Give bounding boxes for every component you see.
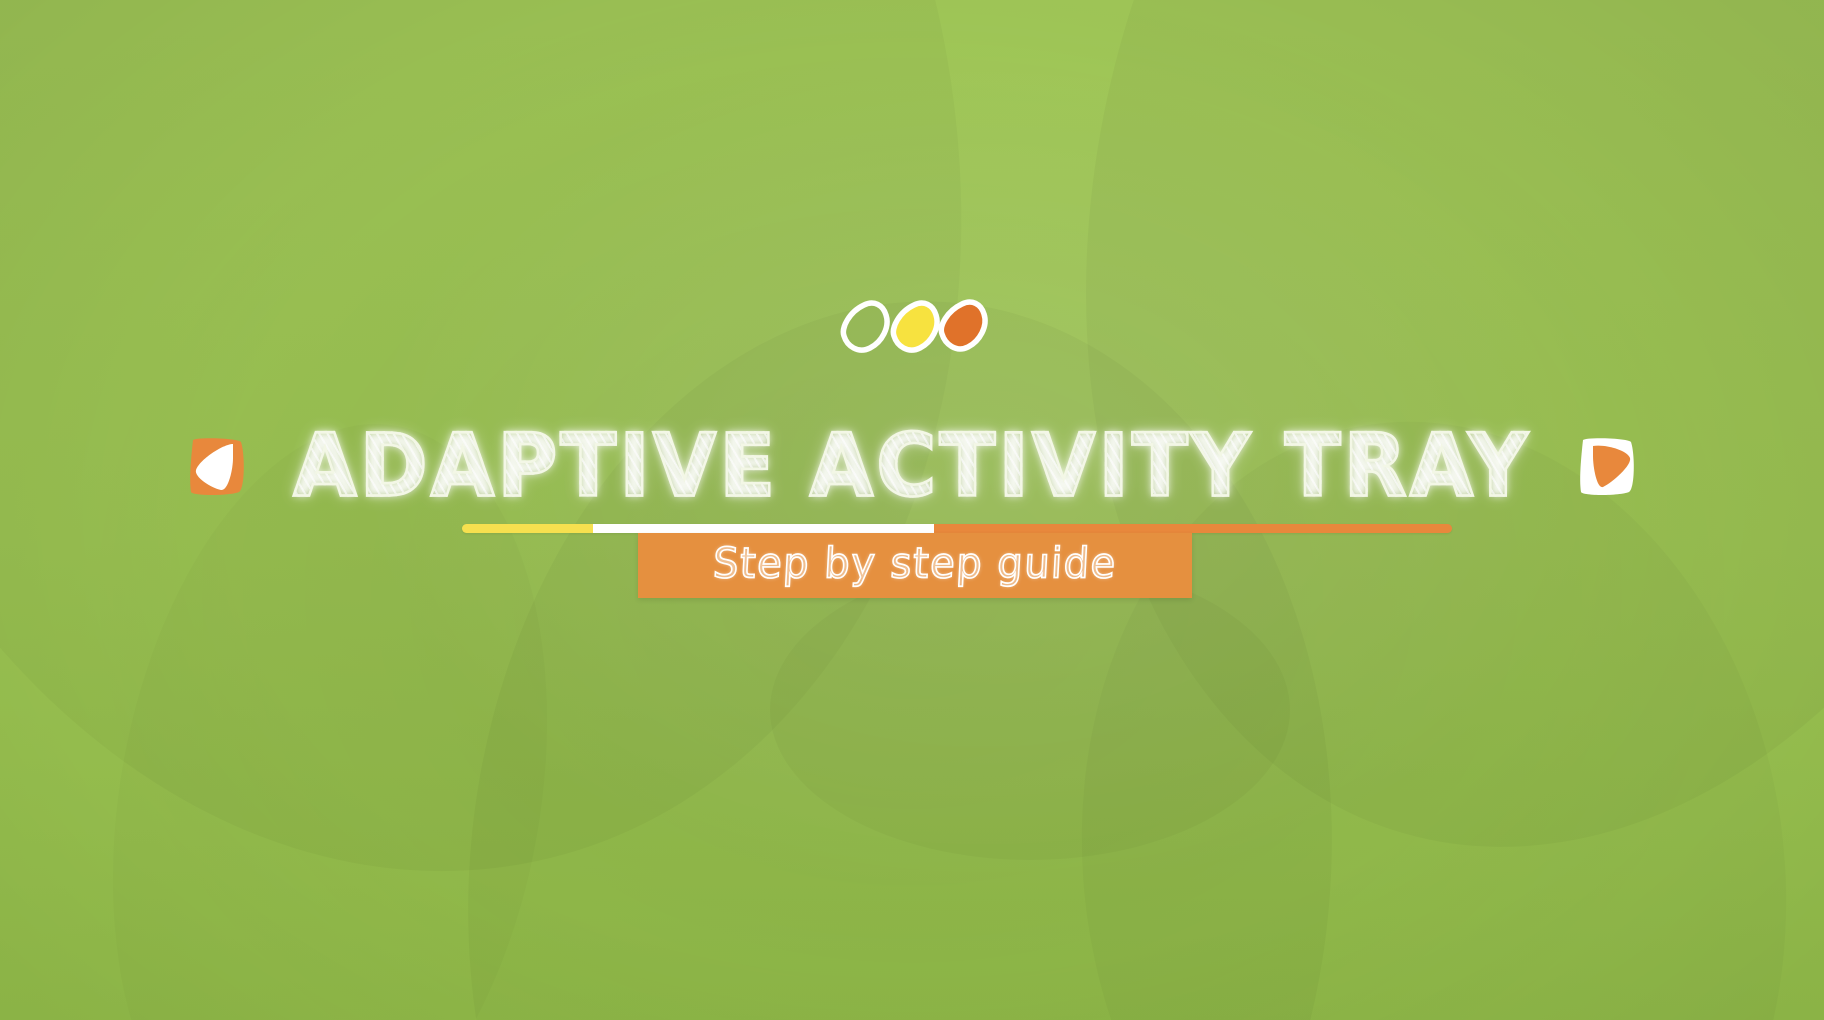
divider-segment-yellow (462, 524, 593, 533)
triangle-outline-icon (843, 303, 887, 350)
divider-segment-orange (934, 524, 1452, 533)
right-decoration-white-square-orange-triangle (1573, 432, 1641, 502)
subtitle-text: Step by step guide (712, 543, 1118, 588)
three-triangles-logo (838, 296, 990, 358)
background-swoosh-center (412, 258, 1387, 1020)
divider-segment-white (593, 524, 935, 533)
background-swoosh-center-lower (770, 560, 1290, 860)
left-decoration-orange-square-white-triangle (183, 432, 251, 502)
triangle-orange-icon (941, 302, 985, 349)
title-row: ADAPTIVE ACTIVITY TRAY (0, 408, 1824, 526)
title-slide: ADAPTIVE ACTIVITY TRAY Step by step guid… (0, 0, 1824, 1020)
subtitle-banner: Step by step guide (638, 533, 1192, 598)
divider (462, 524, 1452, 533)
triangle-yellow-icon (893, 303, 937, 350)
page-title: ADAPTIVE ACTIVITY TRAY (289, 424, 1535, 511)
